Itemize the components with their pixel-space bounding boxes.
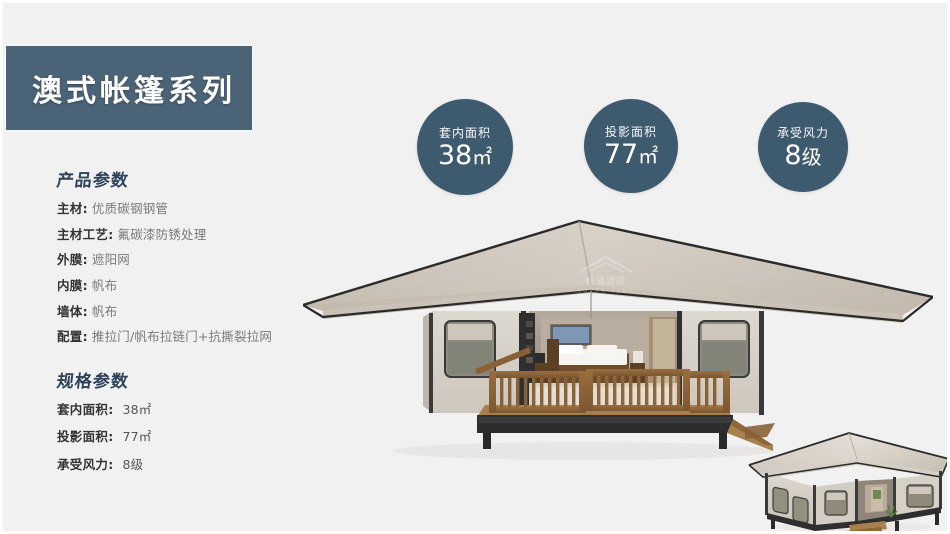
spec-value: 77㎡ <box>123 429 152 445</box>
spec-label: 投影面积: <box>57 429 114 445</box>
stat-badge-interior-area: 套内面积 38㎡ <box>417 99 513 195</box>
stat-value-unit: 级 <box>802 145 822 169</box>
spec-label: 承受风力: <box>57 457 114 473</box>
spec-label: 内膜: <box>57 278 88 294</box>
spec-label: 墙体: <box>57 304 88 320</box>
spec-label: 主材: <box>57 201 88 217</box>
spec-label: 套内面积: <box>57 402 114 418</box>
product-params-heading: 产品参数 <box>55 166 130 191</box>
stat-badge-label: 投影面积 <box>605 123 657 140</box>
slide-canvas: 澳式帐篷系列 产品参数 主材: 优质碳钢钢管 主材工艺: 氟碳漆防锈处理 外膜:… <box>0 0 950 534</box>
stat-badge-label: 套内面积 <box>439 124 491 141</box>
spec-value: 推拉门/帆布拉链门+抗撕裂拉网 <box>92 329 272 345</box>
spec-label: 主材工艺: <box>57 227 114 243</box>
stat-badge-value: 38㎡ <box>438 142 492 170</box>
spec-label: 外膜: <box>57 252 88 268</box>
tent-thumbnail-illustration <box>745 421 950 534</box>
spec-value: 优质碳钢钢管 <box>92 201 168 217</box>
spec-value: 8级 <box>123 457 144 473</box>
stat-value-unit: ㎡ <box>638 144 658 168</box>
spec-params-heading: 规格参数 <box>55 367 130 392</box>
spec-value: 38㎡ <box>123 402 152 418</box>
slide-title-banner: 澳式帐篷系列 <box>6 46 252 130</box>
stat-value-number: 8 <box>784 140 801 171</box>
stat-badge-value: 77㎡ <box>604 141 658 169</box>
stat-value-unit: ㎡ <box>472 145 492 169</box>
spec-value: 氟碳漆防锈处理 <box>118 227 207 243</box>
stat-value-number: 77 <box>604 139 638 170</box>
stat-badge-label: 承受风力 <box>777 124 829 141</box>
stat-badge-value: 8级 <box>784 142 821 170</box>
page-title: 澳式帐篷系列 <box>32 66 236 110</box>
stat-badge-wind-resistance: 承受风力 8级 <box>758 102 848 192</box>
spec-label: 配置: <box>57 329 88 345</box>
stat-value-number: 38 <box>438 140 472 171</box>
spec-value: 遮阳网 <box>92 252 130 268</box>
stat-badge-projected-area: 投影面积 77㎡ <box>584 99 678 193</box>
spec-value: 帆布 <box>92 278 117 294</box>
spec-value: 帆布 <box>92 304 117 320</box>
